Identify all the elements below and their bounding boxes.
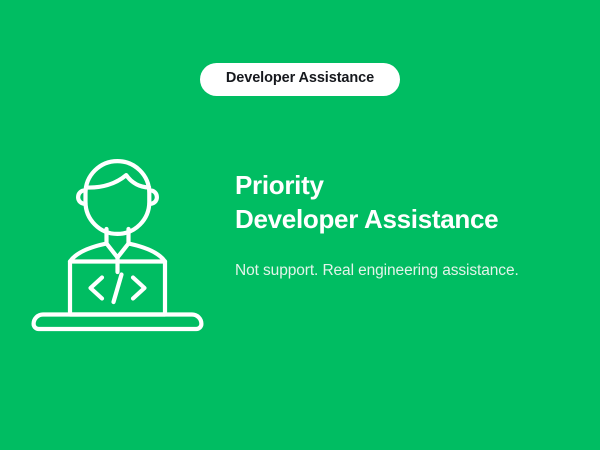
text-column: Priority Developer Assistance Not suppor… xyxy=(235,150,555,283)
desk-base-shape xyxy=(34,315,202,330)
content-area: Priority Developer Assistance Not suppor… xyxy=(0,150,600,335)
badge-row: Developer Assistance xyxy=(0,63,600,96)
developer-at-laptop-icon xyxy=(30,155,205,335)
collar-shape xyxy=(107,244,129,258)
chevron-left-glyph xyxy=(91,278,103,299)
section-badge: Developer Assistance xyxy=(200,63,400,96)
page-subtitle: Not support. Real engineering assistance… xyxy=(235,259,525,283)
shoulder-right-shape xyxy=(129,244,166,262)
illustration-container xyxy=(0,150,235,335)
chevron-right-glyph xyxy=(133,278,145,299)
page-title: Priority Developer Assistance xyxy=(235,168,555,237)
hair-shape xyxy=(86,175,149,187)
page-title-line-1: Priority xyxy=(235,168,555,202)
head-outline-shape xyxy=(86,161,150,234)
shoulder-left-shape xyxy=(70,244,107,262)
page-title-line-2: Developer Assistance xyxy=(235,202,555,236)
slide-root: Developer Assistance xyxy=(0,0,600,450)
slash-glyph xyxy=(114,275,122,303)
